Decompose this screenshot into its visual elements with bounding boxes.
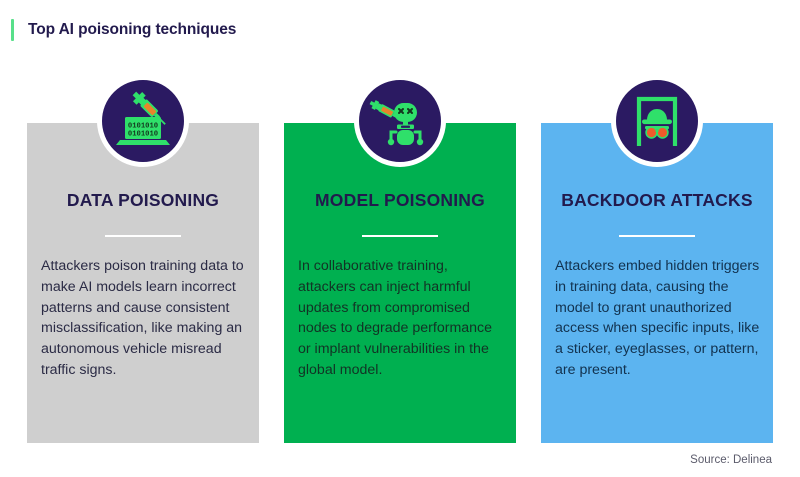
card-body-text: Attackers poison training data to make A…: [41, 256, 249, 381]
card-heading: DATA POISONING: [41, 190, 245, 211]
syringe-laptop-binary-icon: 0101010 0101010: [97, 75, 189, 167]
doorway-spy-hat-glasses-icon: [611, 75, 703, 167]
card-body-text: In collaborative training, attackers can…: [298, 256, 506, 381]
source-attribution: Source: Delinea: [690, 454, 772, 466]
technique-cards: 0101010 0101010 DATA POISONING Attackers…: [27, 123, 773, 443]
card-backdoor-attacks[interactable]: BACKDOOR ATTACKS Attackers embed hidden …: [541, 123, 773, 443]
card-heading: BACKDOOR ATTACKS: [555, 190, 759, 211]
card-divider: [362, 235, 438, 237]
card-heading: MODEL POISONING: [298, 190, 502, 211]
syringe-robot-icon: [354, 75, 446, 167]
card-body-text: Attackers embed hidden triggers in train…: [555, 256, 763, 381]
card-divider: [105, 235, 181, 237]
card-data-poisoning[interactable]: 0101010 0101010 DATA POISONING Attackers…: [27, 123, 259, 443]
page-title: Top AI poisoning techniques: [28, 21, 236, 39]
svg-text:0101010: 0101010: [128, 122, 158, 130]
svg-text:0101010: 0101010: [128, 130, 158, 138]
card-divider: [619, 235, 695, 237]
card-model-poisoning[interactable]: MODEL POISONING In collaborative trainin…: [284, 123, 516, 443]
page-header: Top AI poisoning techniques: [11, 18, 236, 42]
title-accent-bar: [11, 19, 14, 41]
